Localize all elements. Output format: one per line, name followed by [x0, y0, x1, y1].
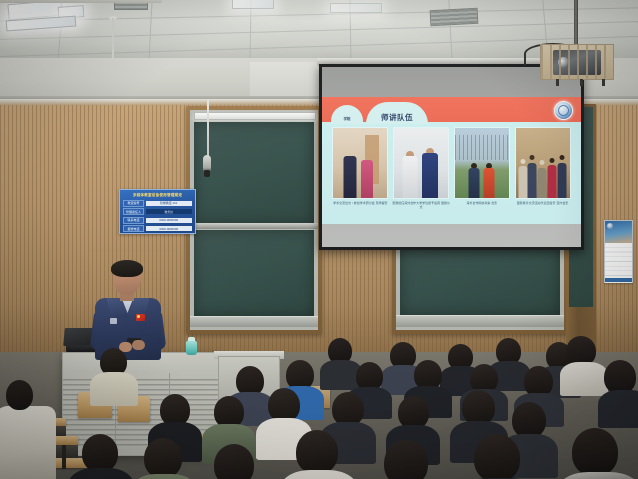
student-head	[512, 402, 546, 438]
cage-bolt	[602, 79, 605, 86]
photo-figure	[467, 157, 482, 198]
figure-body	[484, 168, 495, 198]
placard-row-value: 0000-0000000	[146, 226, 193, 231]
photo-figure	[557, 149, 567, 198]
blackboard-mid-rail	[190, 223, 318, 229]
placard-row: 教室编号 阶梯教室 201	[123, 200, 192, 207]
presenter-badge	[136, 314, 145, 321]
slide-caption-row: 学术交流出访 / 参加学术研讨会 现场留影 受邀担任海外合作大学学位授予嘉宾 颁…	[322, 201, 581, 221]
student-shoulders	[560, 362, 608, 396]
figure-head	[530, 155, 535, 160]
student-head	[214, 444, 254, 479]
lecture-hall-photo: 多媒体教室设备使用管理规定 教室编号 阶梯教室 201 管理责任人 教务处 联系…	[0, 0, 638, 479]
presenter-hair	[111, 260, 143, 277]
placard-row-label: 联系电话	[123, 217, 144, 224]
student-head	[332, 392, 364, 426]
university-emblem-icon	[554, 101, 573, 120]
figure-head	[540, 160, 545, 165]
student-audience	[0, 330, 638, 479]
student-shoulders	[598, 390, 638, 428]
placard-row: 联系电话 0000-0000000	[123, 217, 192, 224]
cage-bars	[541, 45, 613, 79]
slide-photo	[455, 128, 509, 198]
slide-banner: 学院 师讲队伍	[322, 97, 581, 122]
photo-figure	[342, 146, 358, 198]
placard-row-label: 管理责任人	[123, 208, 144, 215]
wall-placard-sign: 多媒体教室设备使用管理规定 教室编号 阶梯教室 201 管理责任人 教务处 联系…	[119, 189, 196, 234]
calendar-footer	[605, 278, 632, 282]
figure-body	[557, 163, 566, 198]
blackboard-lamp	[194, 112, 316, 120]
calendar-header-image	[605, 221, 632, 243]
blackboard-chalk-tray	[190, 316, 318, 327]
slide-photo	[516, 128, 570, 198]
slide-photo	[394, 128, 448, 198]
slide-title-text: 师讲队伍	[366, 114, 428, 122]
front-student-jacket	[0, 406, 56, 479]
slide-photo-caption: 学术交流出访 / 参加学术研讨会 现场留影	[331, 201, 389, 221]
figure-body	[538, 168, 547, 198]
placard-row-value: 阶梯教室 201	[146, 201, 193, 206]
photo-fence	[455, 135, 509, 160]
slide-tab-small-text: 学院	[331, 118, 363, 122]
figure-head	[559, 155, 564, 160]
student-shoulders	[90, 372, 138, 406]
photo-figure	[420, 138, 439, 198]
placard-row: 管理责任人 教务处	[123, 208, 192, 215]
blackboard-left-inner	[190, 110, 318, 330]
blackboard-left-slate-lower	[194, 230, 314, 316]
student-shoulders	[556, 472, 638, 479]
placard-row-label: 教室编号	[123, 200, 144, 207]
student-shoulders	[280, 470, 358, 479]
placard-row-value: 0000-0000000	[146, 218, 193, 223]
figure-body	[528, 163, 537, 198]
student-head	[82, 434, 118, 472]
photo-figure	[537, 155, 547, 198]
slide-photo-caption: 国际教育交流活动代表团合影 室内合影	[514, 201, 572, 221]
blackboard-left-slate-upper	[194, 122, 314, 224]
presenter-jacket-logo	[110, 318, 117, 324]
cage-bolt	[580, 79, 583, 86]
ceiling-support-rod	[112, 18, 114, 60]
front-row-student	[0, 380, 66, 479]
photo-figure	[482, 157, 497, 198]
placard-row-label: 报修电话	[123, 225, 144, 232]
figure-head	[549, 158, 554, 163]
placard-row: 报修电话 0000-0000000	[123, 225, 192, 232]
slide-tab-title: 师讲队伍	[366, 102, 428, 124]
cage-bolt	[556, 79, 559, 86]
slide-photo-caption: 受邀担任海外合作大学学位授予嘉宾 颁授仪式	[392, 201, 450, 221]
ceiling-light-panel	[232, 0, 274, 9]
ceiling-light-panel	[330, 3, 382, 13]
student-head	[604, 360, 636, 394]
slide-tab-small: 学院	[331, 105, 363, 124]
projection-screen: 学院 师讲队伍	[319, 64, 584, 250]
calendar-logo-icon	[607, 223, 613, 229]
student-shoulders	[68, 468, 134, 479]
figure-body	[547, 165, 556, 198]
front-student-head	[6, 380, 33, 410]
photo-figure	[528, 149, 538, 198]
student-head	[384, 440, 428, 479]
figure-body	[518, 166, 527, 198]
student-head	[462, 390, 495, 425]
microphone-cable	[207, 100, 209, 158]
photo-figure	[359, 149, 375, 198]
student-head	[268, 388, 300, 422]
figure-body	[344, 156, 357, 198]
badge-star-icon	[137, 315, 140, 318]
photo-figure	[401, 141, 419, 198]
placard-row-value: 教务处	[146, 209, 193, 214]
figure-body	[402, 156, 417, 198]
projected-slide: 学院 师讲队伍	[322, 97, 581, 224]
student-head	[572, 428, 618, 476]
lectern-surface	[0, 0, 162, 3]
slide-photo	[333, 128, 387, 198]
calendar-date-grid	[605, 243, 632, 283]
blackboard-chalk-tray	[396, 315, 564, 327]
figure-body	[361, 160, 373, 198]
photo-figure	[547, 152, 557, 198]
student-head	[296, 430, 338, 474]
student-head	[144, 438, 182, 478]
projector-mount-pole	[574, 0, 578, 46]
figure-body	[469, 168, 480, 198]
figure-head	[520, 159, 525, 164]
projector-security-cage	[540, 44, 614, 80]
student-head	[474, 434, 520, 479]
screen-surface: 学院 师讲队伍	[322, 67, 581, 247]
microphone-capsule	[204, 170, 210, 177]
wall-calendar	[604, 220, 633, 283]
student-shoulders	[130, 474, 198, 479]
slide-photo-row	[322, 128, 581, 200]
placard-title: 多媒体教室设备使用管理规定	[123, 193, 192, 198]
figure-body	[422, 153, 438, 198]
ceiling-air-vent	[430, 8, 479, 26]
photo-figure	[518, 153, 528, 198]
slide-photo-caption: 海外合作院校考察 合影	[453, 201, 511, 221]
